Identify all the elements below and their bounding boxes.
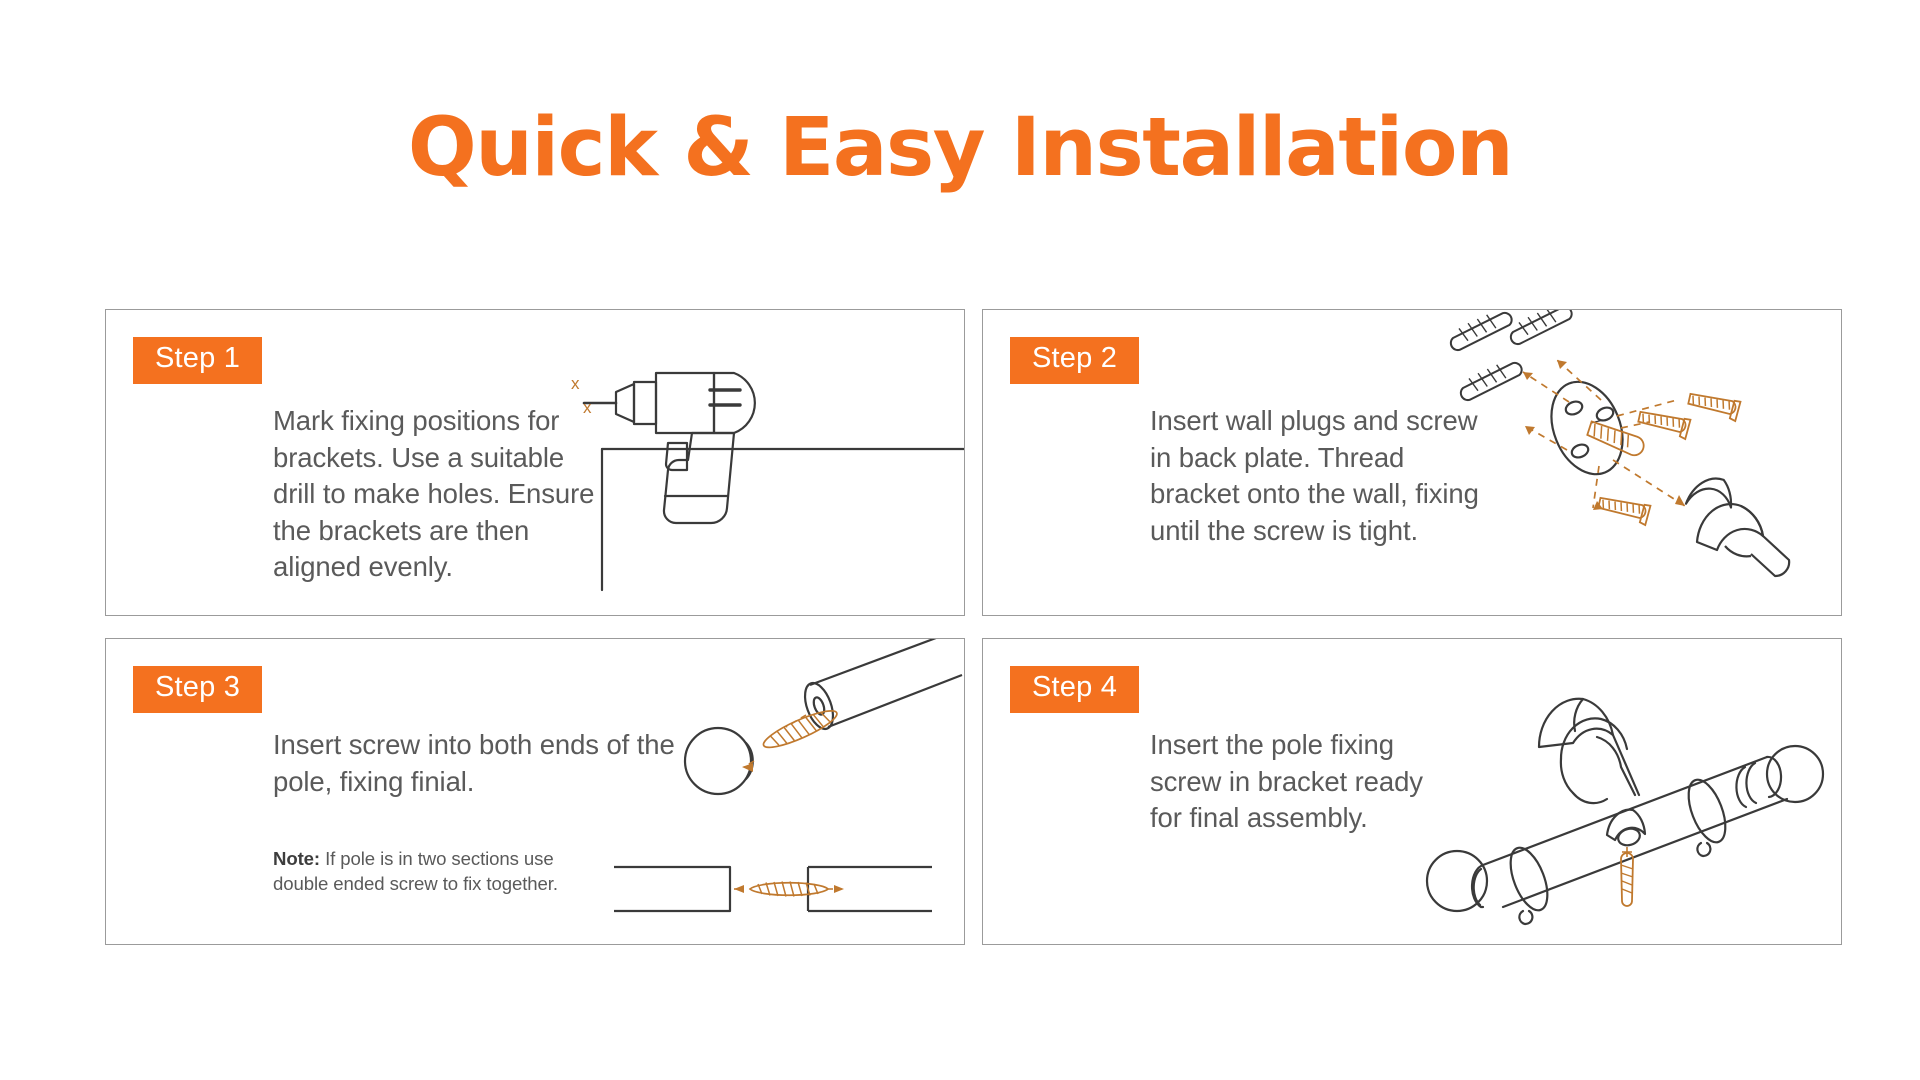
step-card-2: Step 2 Insert wall plugs and screw in ba… (982, 309, 1842, 616)
step-badge-4: Step 4 (1010, 666, 1139, 713)
drill-mark-x: x x x (564, 374, 592, 417)
page-title: Quick & Easy Installation (0, 108, 1920, 189)
step-note-3: Note: If pole is in two sections use dou… (273, 846, 603, 896)
assembled-curtain-pole-icon (1411, 639, 1841, 944)
step-body-2: Insert wall plugs and screw in back plat… (1150, 403, 1480, 549)
svg-text:x: x (583, 398, 592, 417)
step-card-4: Step 4 Insert the pole fixing screw in b… (982, 638, 1842, 945)
step-card-1: Step 1 Mark fixing positions for bracket… (105, 309, 965, 616)
finial-screw-pole-sections-icon (614, 639, 964, 944)
svg-text:x: x (571, 374, 580, 393)
step-body-4: Insert the pole fixing screw in bracket … (1150, 727, 1450, 837)
wall-plugs-backplate-screws-icon (1441, 310, 1841, 615)
steps-grid: Step 1 Mark fixing positions for bracket… (105, 309, 1842, 959)
step-badge-1: Step 1 (133, 337, 262, 384)
step-badge-3: Step 3 (133, 666, 262, 713)
note-label: Note: (273, 848, 320, 869)
drill-and-wall-marks-icon: x x x (564, 310, 964, 615)
step-badge-2: Step 2 (1010, 337, 1139, 384)
step-card-3: Step 3 Insert screw into both ends of th… (105, 638, 965, 945)
step-body-1: Mark fixing positions for brackets. Use … (273, 403, 603, 586)
